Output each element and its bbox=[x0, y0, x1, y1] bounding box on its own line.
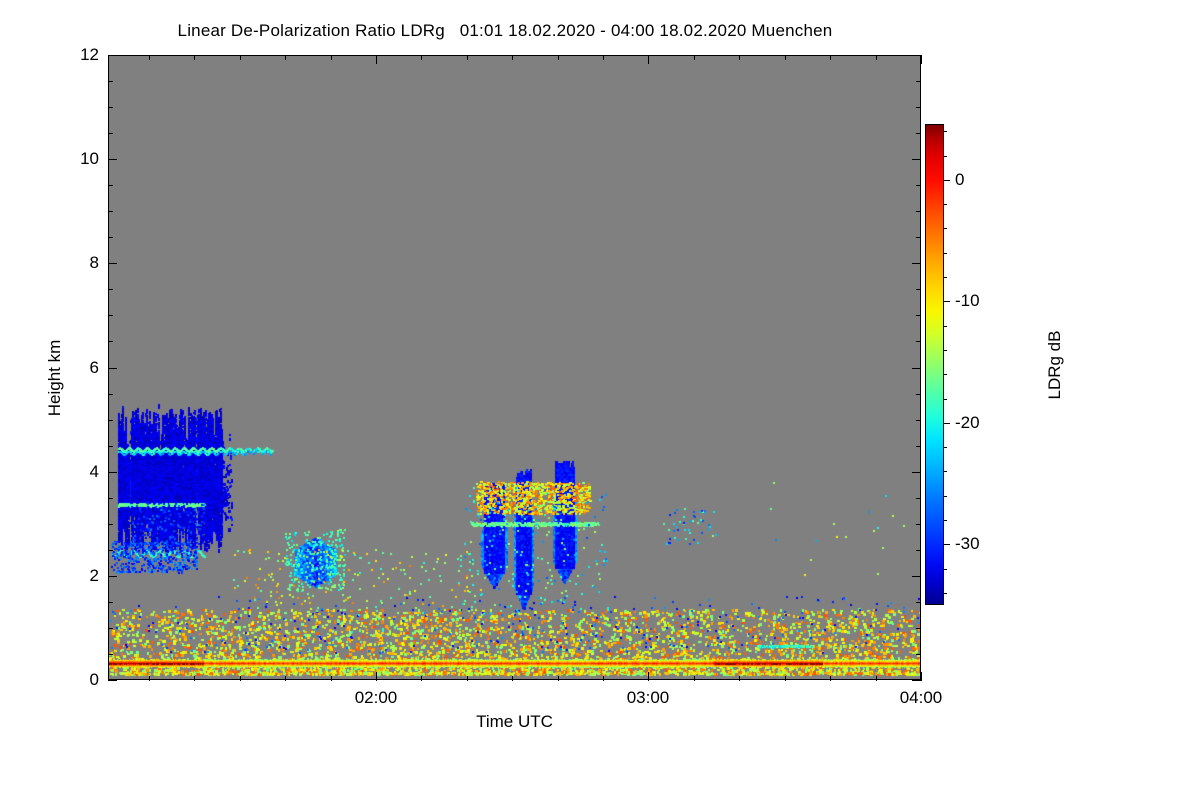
x-axis-title: Time UTC bbox=[108, 712, 921, 732]
x-tick-label: 02:00 bbox=[316, 688, 436, 708]
colorbar-minor-tick bbox=[944, 131, 947, 132]
colorbar-minor-tick bbox=[944, 374, 947, 375]
x-tick-label: 03:00 bbox=[588, 688, 708, 708]
colorbar-minor-tick bbox=[944, 569, 947, 570]
y-axis-title: Height km bbox=[45, 278, 65, 478]
y-tick-label: 8 bbox=[39, 253, 99, 273]
plot-figure: Linear De-Polarization Ratio LDRg 01:01 … bbox=[0, 0, 1200, 800]
y-tick-label: 12 bbox=[39, 45, 99, 65]
colorbar-minor-tick bbox=[944, 228, 947, 229]
page-title: Linear De-Polarization Ratio LDRg 01:01 … bbox=[0, 21, 1010, 41]
plot-axes-area bbox=[108, 55, 921, 680]
colorbar-tick-label: -10 bbox=[955, 291, 980, 311]
colorbar-tick-label: -30 bbox=[955, 534, 980, 554]
colorbar-tick bbox=[944, 544, 950, 545]
x-tick-label: 04:00 bbox=[861, 688, 981, 708]
colorbar-minor-tick bbox=[944, 496, 947, 497]
y-tick-label: 0 bbox=[39, 670, 99, 690]
colorbar-minor-tick bbox=[944, 277, 947, 278]
colorbar-minor-tick bbox=[944, 204, 947, 205]
colorbar-minor-tick bbox=[944, 253, 947, 254]
colorbar-tick bbox=[944, 180, 950, 181]
colorbar-minor-tick bbox=[944, 471, 947, 472]
colorbar-gradient bbox=[925, 124, 944, 605]
colorbar-tick bbox=[944, 301, 950, 302]
colorbar-minor-tick bbox=[944, 350, 947, 351]
y-tick-label: 10 bbox=[39, 149, 99, 169]
colorbar-minor-tick bbox=[944, 593, 947, 594]
colorbar-tick bbox=[944, 423, 950, 424]
colorbar-minor-tick bbox=[944, 399, 947, 400]
time-height-heatmap bbox=[109, 56, 920, 679]
colorbar-tick-label: 0 bbox=[955, 170, 964, 190]
colorbar-minor-tick bbox=[944, 447, 947, 448]
colorbar-tick-label: -20 bbox=[955, 413, 980, 433]
y-tick-label: 2 bbox=[39, 566, 99, 586]
colorbar-minor-tick bbox=[944, 326, 947, 327]
colorbar-minor-tick bbox=[944, 156, 947, 157]
colorbar-minor-tick bbox=[944, 520, 947, 521]
colorbar-title: LDRg dB bbox=[1045, 265, 1065, 465]
